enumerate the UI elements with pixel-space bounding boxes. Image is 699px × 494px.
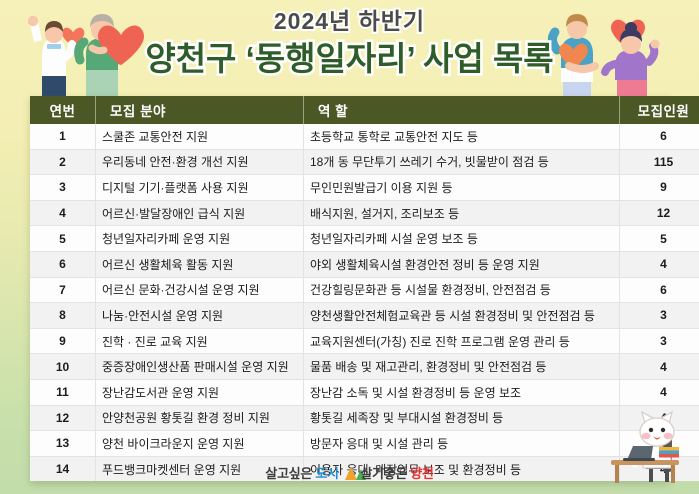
table-row: 12안양천공원 황톳길 환경 정비 지원황톳길 세족장 및 부대시설 환경정비 … <box>30 405 699 431</box>
table-body: 1스쿨존 교통안전 지원초등학교 통학로 교통안전 지도 등6 2우리동네 안전… <box>30 124 699 481</box>
cell-role: 양천생활안전체험교육관 등 시설 환경정비 및 안전점검 등 <box>304 303 620 329</box>
book-stack-shape <box>659 447 679 458</box>
cell-count: 6 <box>620 124 699 149</box>
cell-role: 야외 생활체육시설 환경안전 정비 등 운영 지원 <box>304 251 620 277</box>
right-illustration <box>539 4 689 96</box>
cell-no: 11 <box>30 379 96 405</box>
table-row: 5청년일자리카페 운영 지원청년일자리카페 시설 운영 보조 등5 <box>30 226 699 252</box>
cell-no: 6 <box>30 251 96 277</box>
header-banner: 2024년 하반기 양천구 ‘동행일자리’ 사업 목록 <box>0 0 699 96</box>
person-older-woman <box>79 14 144 96</box>
cell-count: 12 <box>620 200 699 226</box>
cell-role: 건강힐링문화관 등 시설물 환경정비, 안전점검 등 <box>304 277 620 303</box>
cell-field: 청년일자리카페 운영 지원 <box>96 226 304 252</box>
footer-slogan: 살고싶은 도시 살기좋은 양천 <box>0 463 699 482</box>
cell-field: 어르신·발달장애인 급식 지원 <box>96 200 304 226</box>
cell-field: 양천 바이크라운지 운영 지원 <box>96 431 304 457</box>
cell-count: 4 <box>620 354 699 380</box>
table-row: 3디지털 기기·플랫폼 사용 지원무인민원발급기 이용 지원 등9 <box>30 175 699 201</box>
cell-no: 10 <box>30 354 96 380</box>
cell-no: 2 <box>30 149 96 175</box>
slogan-part-2: 살기좋은 <box>360 466 407 481</box>
cell-field: 우리동네 안전·환경 개선 지원 <box>96 149 304 175</box>
table-row: 2우리동네 안전·환경 개선 지원18개 동 무단투기 쓰레기 수거, 빗물받이… <box>30 149 699 175</box>
cell-role: 물품 배송 및 재고관리, 환경정비 및 안전점검 등 <box>304 354 620 380</box>
table-row: 1스쿨존 교통안전 지원초등학교 통학로 교통안전 지도 등6 <box>30 124 699 149</box>
cell-field: 중증장애인생산품 판매시설 운영 지원 <box>96 354 304 380</box>
cell-role: 교육지원센터(가칭) 진로 진학 프로그램 운영 관리 등 <box>304 328 620 354</box>
cell-field: 디지털 기기·플랫폼 사용 지원 <box>96 175 304 201</box>
cell-field: 장난감도서관 운영 지원 <box>96 379 304 405</box>
cell-no: 5 <box>30 226 96 252</box>
cell-field: 스쿨존 교통안전 지원 <box>96 124 304 149</box>
table-row: 4어르신·발달장애인 급식 지원배식지원, 설거지, 조리보조 등12 <box>30 200 699 226</box>
cell-field: 안양천공원 황톳길 환경 정비 지원 <box>96 405 304 431</box>
cell-count: 115 <box>620 149 699 175</box>
laptop-icon <box>623 446 655 461</box>
table-row: 13양천 바이크라운지 운영 지원방문자 응대 및 시설 관리 등3 <box>30 431 699 457</box>
cell-field: 어르신 문화·건강시설 운영 지원 <box>96 277 304 303</box>
cell-no: 3 <box>30 175 96 201</box>
column-header-no: 연번 <box>30 96 96 124</box>
cell-no: 7 <box>30 277 96 303</box>
slogan-part-1: 살고싶은 <box>265 466 312 481</box>
cell-role: 배식지원, 설거지, 조리보조 등 <box>304 200 620 226</box>
slogan-dosi: 도시 <box>315 466 338 481</box>
table-row: 11장난감도서관 운영 지원장난감 소독 및 시설 환경정비 등 운영 보조4 <box>30 379 699 405</box>
cell-field: 나눔·안전시설 운영 지원 <box>96 303 304 329</box>
job-list-table-container: 연번 모집 분야 역 할 모집인원 1스쿨존 교통안전 지원초등학교 통학로 교… <box>30 96 670 481</box>
cell-no: 13 <box>30 431 96 457</box>
cell-no: 1 <box>30 124 96 149</box>
cell-count: 5 <box>620 226 699 252</box>
cell-role: 장난감 소독 및 시설 환경정비 등 운영 보조 <box>304 379 620 405</box>
table-row: 8나눔·안전시설 운영 지원양천생활안전체험교육관 등 시설 환경정비 및 안전… <box>30 303 699 329</box>
cell-role: 황톳길 세족장 및 부대시설 환경정비 등 <box>304 405 620 431</box>
cell-count: 3 <box>620 328 699 354</box>
cell-no: 8 <box>30 303 96 329</box>
cell-role: 무인민원발급기 이용 지원 등 <box>304 175 620 201</box>
table-header-row: 연번 모집 분야 역 할 모집인원 <box>30 96 699 124</box>
cell-role: 18개 동 무단투기 쓰레기 수거, 빗물받이 점검 등 <box>304 149 620 175</box>
table-row: 7어르신 문화·건강시설 운영 지원건강힐링문화관 등 시설물 환경정비, 안전… <box>30 277 699 303</box>
table-row: 6어르신 생활체육 활동 지원야외 생활체육시설 환경안전 정비 등 운영 지원… <box>30 251 699 277</box>
job-list-table: 연번 모집 분야 역 할 모집인원 1스쿨존 교통안전 지원초등학교 통학로 교… <box>30 96 699 481</box>
cell-no: 4 <box>30 200 96 226</box>
person-man-blue <box>552 14 595 96</box>
cell-role: 초등학교 통학로 교통안전 지도 등 <box>304 124 620 149</box>
column-header-field: 모집 분야 <box>96 96 304 124</box>
cell-role: 청년일자리카페 시설 운영 보조 등 <box>304 226 620 252</box>
table-row: 10중증장애인생산품 판매시설 운영 지원물품 배송 및 재고관리, 환경정비 … <box>30 354 699 380</box>
person-young-man <box>28 16 72 96</box>
column-header-count: 모집인원 <box>620 96 699 124</box>
cell-field: 진학 · 진로 교육 지원 <box>96 328 304 354</box>
cell-no: 9 <box>30 328 96 354</box>
left-illustration <box>20 4 210 96</box>
slogan-yangcheon: 양천 <box>410 466 433 481</box>
cell-no: 12 <box>30 405 96 431</box>
cell-count: 6 <box>620 277 699 303</box>
cell-count: 3 <box>620 303 699 329</box>
table-row: 9진학 · 진로 교육 지원교육지원센터(가칭) 진로 진학 프로그램 운영 관… <box>30 328 699 354</box>
cell-field: 어르신 생활체육 활동 지원 <box>96 251 304 277</box>
cell-count: 9 <box>620 175 699 201</box>
cell-role: 방문자 응대 및 시설 관리 등 <box>304 431 620 457</box>
column-header-role: 역 할 <box>304 96 620 124</box>
cell-count: 4 <box>620 379 699 405</box>
cell-count: 4 <box>620 251 699 277</box>
